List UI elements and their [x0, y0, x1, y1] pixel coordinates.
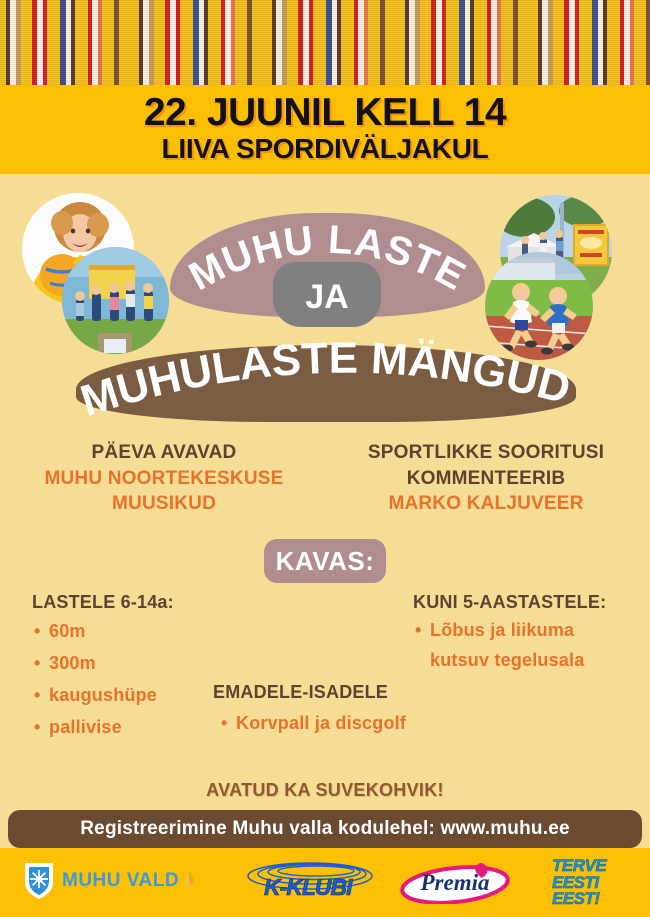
- title-banner-bottom: MUHULASTE MÄNGUD: [76, 345, 576, 422]
- program-label-pill: KAVAS:: [264, 539, 386, 583]
- sponsor-premia[interactable]: Premia: [400, 862, 510, 904]
- summer-cafe-note: AVATUD KA SUVEKOHVIK!: [0, 780, 650, 801]
- muhu-vald-label: MUHU VALD: [62, 870, 179, 892]
- k-klubi-label: K-KLUBI: [264, 874, 352, 901]
- credits-right-column: SPORTLIKKE SOORITUSI KOMMENTEERIB MARKO …: [336, 440, 636, 517]
- sponsor-strip: MUHU VALD K-KLUBI Premia: [0, 848, 650, 917]
- muhu-vald-shield-icon: [24, 862, 54, 900]
- program-kids-item: 60m: [32, 618, 272, 645]
- program-kids-heading: LASTELE 6-14a:: [32, 592, 272, 613]
- title-ja-box: JA: [273, 262, 381, 327]
- credits-right-heading-line1: SPORTLIKKE SOORITUSI: [336, 440, 636, 466]
- terve-eesti-line3: EEST!: [552, 891, 606, 908]
- program-parents-heading: EMADELE-ISADELE: [213, 682, 455, 703]
- sponsor-muhu-vald[interactable]: MUHU VALD: [24, 862, 196, 900]
- woven-stripe-band: [0, 0, 650, 85]
- credits-left-name-line1: MUHU NOORTEKESKUSE: [14, 466, 314, 492]
- program-parents-item: Korvpall ja discgolf: [219, 710, 455, 737]
- awareness-ribbon-icon: [182, 868, 196, 894]
- program-toddlers-item-line1: Lõbus ja liikuma: [413, 617, 643, 643]
- credits-left-column: PÄEVA AVAVAD MUHU NOORTEKESKUSE MUUSIKUD: [14, 440, 314, 517]
- registration-banner[interactable]: Registreerimine Muhu valla kodulehel: ww…: [8, 810, 642, 848]
- registration-text: Registreerimine Muhu valla kodulehel: ww…: [80, 818, 569, 840]
- sponsor-terve-eesti[interactable]: TERVE EESTI EEST!: [552, 858, 606, 908]
- title-arc-bottom-text: MUHULASTE MÄNGUD: [75, 334, 576, 426]
- photo-kids-running: [485, 252, 593, 360]
- program-toddlers-group: KUNI 5-AASTASTELE: Lõbus ja liikuma kuts…: [413, 592, 643, 673]
- program-toddlers-item-line2: kutsuv tegelusala: [413, 647, 643, 673]
- program-toddlers-heading: KUNI 5-AASTASTELE:: [413, 592, 643, 613]
- svg-text:MUHULASTE MÄNGUD: MUHULASTE MÄNGUD: [75, 334, 576, 426]
- program-parents-group: EMADELE-ISADELE Korvpall ja discgolf: [205, 682, 455, 737]
- poster-root: 22. JUUNIL KELL 14 LIIVA SPORDIVÄLJAKUL: [0, 0, 650, 917]
- credits-left-heading: PÄEVA AVAVAD: [14, 440, 314, 466]
- photo-kids-podium: [62, 247, 169, 354]
- credits-right-heading-line2: KOMMENTEERIB: [336, 466, 636, 492]
- event-date-time: 22. JUUNIL KELL 14: [0, 85, 650, 134]
- sponsor-k-klubi[interactable]: K-KLUBI: [236, 860, 376, 904]
- program-kids-item: 300m: [32, 650, 272, 677]
- credits-right-name: MARKO KALJUVEER: [336, 491, 636, 517]
- premia-label: Premia: [400, 862, 510, 904]
- header-band: 22. JUUNIL KELL 14 LIIVA SPORDIVÄLJAKUL: [0, 85, 650, 174]
- event-location: LIIVA SPORDIVÄLJAKUL: [0, 134, 650, 165]
- credits-left-name-line2: MUUSIKUD: [14, 491, 314, 517]
